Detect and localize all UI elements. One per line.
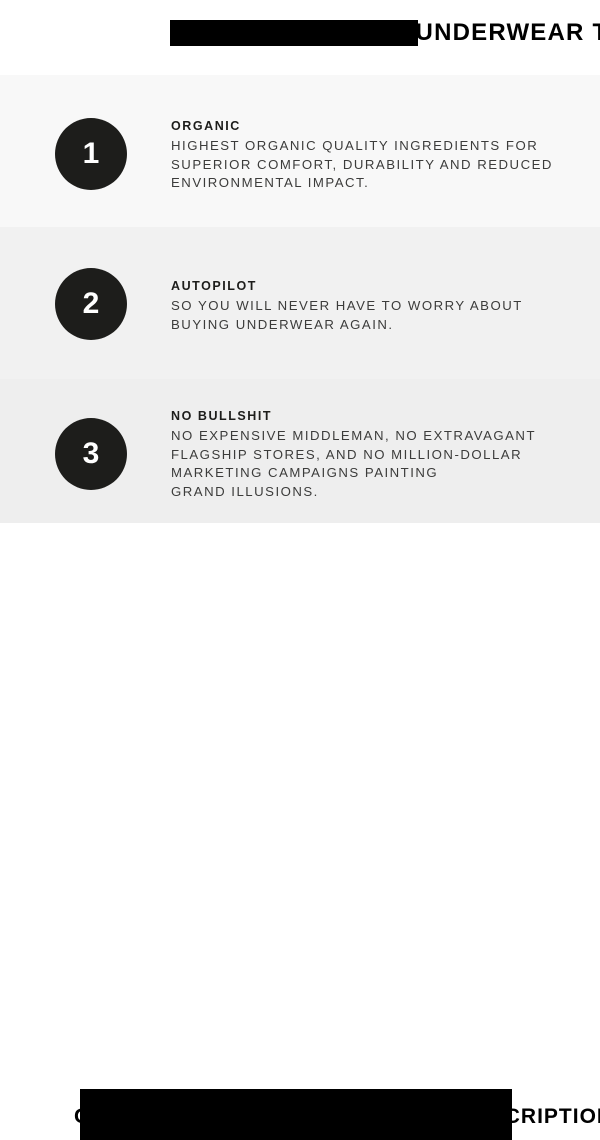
feature-body-2: SO YOU WILL NEVER HAVE TO WORRY ABOUT BU… xyxy=(171,297,581,334)
bottom-redaction-bar xyxy=(80,1089,512,1140)
feature-title-2: AUTOPILOT xyxy=(171,277,581,296)
feature-body-3: NO EXPENSIVE MIDDLEMAN, NO EXTRAVAGANT F… xyxy=(171,427,581,501)
bottom-heading-area: ORGANIC COTTON UNDERWEAR SUBSCRIPTIONS xyxy=(0,523,600,639)
feature-body-line: GRAND ILLUSIONS. xyxy=(171,483,581,502)
feature-body-line: ENVIRONMENTAL IMPACT. xyxy=(171,174,581,193)
top-heading-area: ORGANIC COTTON UNDERWEAR THAT LASTS xyxy=(0,0,600,75)
feature-number-label-3: 3 xyxy=(83,437,100,471)
feature-number-badge-3: 3 xyxy=(55,418,127,490)
feature-number-label-1: 1 xyxy=(83,137,100,171)
feature-body-line: SO YOU WILL NEVER HAVE TO WORRY ABOUT xyxy=(171,297,581,316)
feature-body-line: NO EXPENSIVE MIDDLEMAN, NO EXTRAVAGANT xyxy=(171,427,581,446)
feature-item-autopilot: AUTOPILOT SO YOU WILL NEVER HAVE TO WORR… xyxy=(171,277,581,334)
feature-body-line: MARKETING CAMPAIGNS PAINTING xyxy=(171,464,581,483)
feature-number-badge-1: 1 xyxy=(55,118,127,190)
feature-item-organic: ORGANIC HIGHEST ORGANIC QUALITY INGREDIE… xyxy=(171,117,581,193)
feature-body-line: SUPERIOR COMFORT, DURABILITY AND REDUCED xyxy=(171,156,581,175)
top-redaction-bar xyxy=(170,20,418,46)
feature-title-3: NO BULLSHIT xyxy=(171,407,581,426)
feature-number-badge-2: 2 xyxy=(55,268,127,340)
feature-body-line: HIGHEST ORGANIC QUALITY INGREDIENTS FOR xyxy=(171,137,581,156)
feature-item-no-bullshit: NO BULLSHIT NO EXPENSIVE MIDDLEMAN, NO E… xyxy=(171,407,581,501)
feature-number-label-2: 2 xyxy=(83,287,100,321)
feature-body-line: BUYING UNDERWEAR AGAIN. xyxy=(171,316,581,335)
feature-body-1: HIGHEST ORGANIC QUALITY INGREDIENTS FOR … xyxy=(171,137,581,193)
feature-title-1: ORGANIC xyxy=(171,117,581,136)
feature-body-line: FLAGSHIP STORES, AND NO MILLION-DOLLAR xyxy=(171,446,581,465)
